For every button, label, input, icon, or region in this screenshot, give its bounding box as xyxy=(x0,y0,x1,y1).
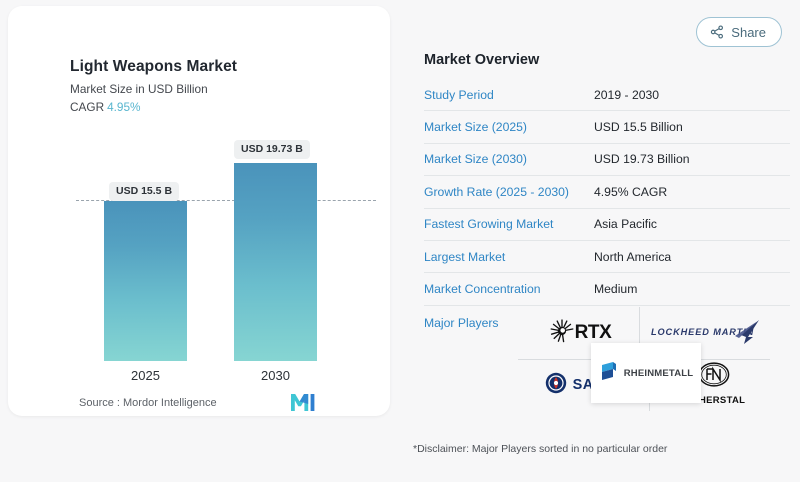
bar-chart-plot: USD 15.5 B USD 19.73 B 2025 2030 xyxy=(8,6,390,416)
row-label: Market Size (2025) xyxy=(424,120,594,134)
rtx-logo-icon xyxy=(549,318,575,349)
row-label: Largest Market xyxy=(424,250,594,264)
row-label: Market Concentration xyxy=(424,282,594,296)
rtx-logo-text: RTX xyxy=(575,322,612,344)
major-players-logo-grid: RTX LOCKHEED MARTIN SAAB xyxy=(518,307,770,411)
row-value: Medium xyxy=(594,282,637,296)
x-axis-label-2030: 2030 xyxy=(234,368,317,383)
row-value: USD 15.5 Billion xyxy=(594,120,683,134)
row-label: Growth Rate (2025 - 2030) xyxy=(424,185,594,199)
table-row: Market Size (2025) USD 15.5 Billion xyxy=(424,111,790,143)
x-axis-label-2025: 2025 xyxy=(104,368,187,383)
bar-value-label-2025: USD 15.5 B xyxy=(109,182,179,201)
chart-card: Light Weapons Market Market Size in USD … xyxy=(8,6,390,416)
market-overview-page: Light Weapons Market Market Size in USD … xyxy=(0,0,800,482)
row-label: Fastest Growing Market xyxy=(424,217,594,231)
market-overview-table: Study Period 2019 - 2030 Market Size (20… xyxy=(424,79,790,340)
market-overview-title: Market Overview xyxy=(424,52,539,68)
row-value: North America xyxy=(594,250,671,264)
row-value: 4.95% CAGR xyxy=(594,185,667,199)
mordor-intelligence-logo xyxy=(291,394,315,416)
rheinmetall-logo-text: RHEINMETALL xyxy=(624,368,694,379)
share-nodes-icon xyxy=(710,25,724,39)
table-row: Market Concentration Medium xyxy=(424,273,790,305)
share-button[interactable]: Share xyxy=(696,17,782,47)
table-row: Study Period 2019 - 2030 xyxy=(424,79,790,111)
bar-2030[interactable] xyxy=(234,163,317,361)
saab-logo-icon xyxy=(545,372,573,399)
row-value: Asia Pacific xyxy=(594,217,657,231)
row-label: Study Period xyxy=(424,88,594,102)
player-logo-rheinmetall[interactable]: RHEINMETALL xyxy=(591,343,701,403)
bar-value-label-2030: USD 19.73 B xyxy=(234,140,310,159)
source-text: Source : Mordor Intelligence xyxy=(79,397,217,409)
fn-herstal-monogram-icon xyxy=(698,362,730,392)
share-button-label: Share xyxy=(731,25,766,40)
table-row: Growth Rate (2025 - 2030) 4.95% CAGR xyxy=(424,176,790,208)
row-value: USD 19.73 Billion xyxy=(594,152,690,166)
table-row: Fastest Growing Market Asia Pacific xyxy=(424,209,790,241)
table-row: Largest Market North America xyxy=(424,241,790,273)
bar-2025[interactable] xyxy=(104,201,187,361)
disclaimer-text: *Disclaimer: Major Players sorted in no … xyxy=(413,443,667,455)
row-value: 2019 - 2030 xyxy=(594,88,659,102)
rheinmetall-logo-icon xyxy=(599,360,619,387)
table-row: Market Size (2030) USD 19.73 Billion xyxy=(424,144,790,176)
row-label: Market Size (2030) xyxy=(424,152,594,166)
